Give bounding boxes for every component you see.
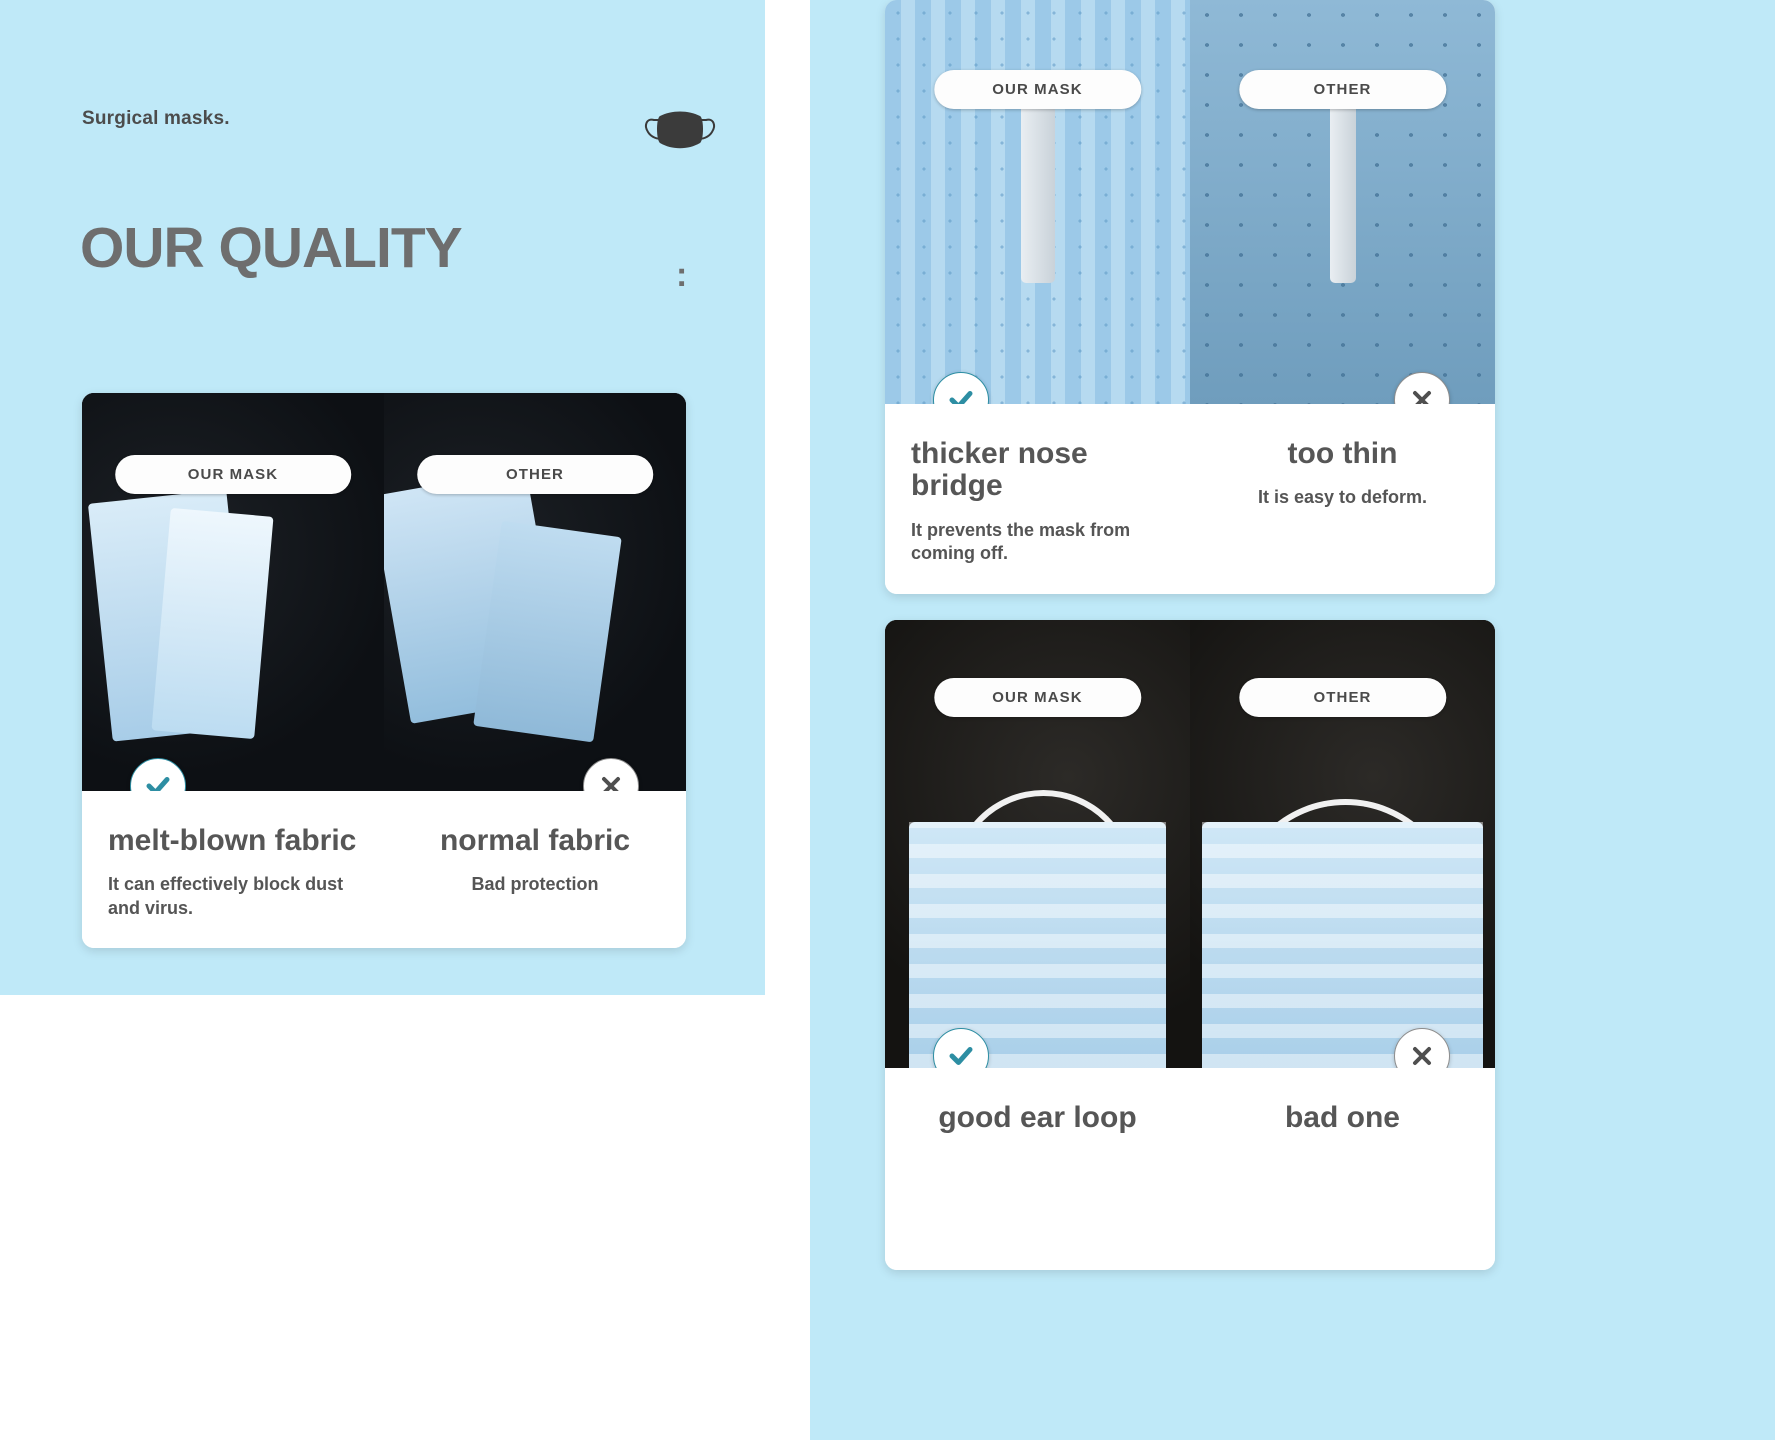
mask-cloth <box>1202 822 1483 1068</box>
caption-sub: It can effectively block dust and virus. <box>108 873 358 920</box>
caption-title: bad one <box>1216 1102 1469 1134</box>
photo-half-our-mask: OUR MASK <box>82 393 384 791</box>
brand-text: Surgical masks. <box>82 108 732 130</box>
caption-sub: It is easy to deform. <box>1216 486 1469 509</box>
nose-strip-thin <box>1330 93 1356 283</box>
check-icon <box>143 771 173 791</box>
right-panel: OUR MASK OTHER <box>810 0 1775 1440</box>
photo-half-other: OTHER <box>384 393 686 791</box>
caption-sub: It prevents the mask from coming off. <box>911 519 1164 566</box>
page-title: OUR QUALITY <box>80 215 462 281</box>
card-ear-loop: OUR MASK OTHER <box>885 620 1495 1270</box>
check-icon <box>946 1041 976 1068</box>
photo-half-other: OTHER <box>1190 0 1495 404</box>
pill-other: OTHER <box>417 455 653 494</box>
pill-other: OTHER <box>1239 70 1446 109</box>
card-loop-photo: OUR MASK OTHER <box>885 620 1495 1068</box>
card-nose-bridge: OUR MASK OTHER <box>885 0 1495 594</box>
caption-title: melt-blown fabric <box>108 825 358 857</box>
photo-half-our-mask: OUR MASK <box>885 620 1190 1068</box>
card-fabric: OUR MASK OTHER <box>82 393 686 948</box>
fabric-fold <box>151 508 273 739</box>
card-fabric-caption: melt-blown fabric It can effectively blo… <box>82 791 686 948</box>
colon-glyph: : <box>676 262 687 289</box>
check-icon <box>946 385 976 404</box>
infographic-page: Surgical masks. OUR QUALITY : OUR MASK <box>0 0 1775 1440</box>
card-fabric-photo: OUR MASK OTHER <box>82 393 686 791</box>
pill-our-mask: OUR MASK <box>934 678 1141 717</box>
colon-decoration: : <box>676 262 687 289</box>
photo-half-other: OTHER <box>1190 620 1495 1068</box>
caption-title: thicker nose bridge <box>911 438 1164 503</box>
caption-col-our-mask: melt-blown fabric It can effectively blo… <box>82 825 384 920</box>
brand-row: Surgical masks. <box>82 108 732 168</box>
caption-col-other: normal fabric Bad protection <box>384 825 686 920</box>
cross-icon <box>1407 1041 1437 1068</box>
caption-title: good ear loop <box>911 1102 1164 1134</box>
cross-icon <box>596 771 626 791</box>
card-nose-caption: thicker nose bridge It prevents the mask… <box>885 404 1495 594</box>
caption-sub: Bad protection <box>410 873 660 896</box>
card-loop-caption: good ear loop bad one <box>885 1068 1495 1270</box>
card-nose-photo: OUR MASK OTHER <box>885 0 1495 404</box>
left-panel: Surgical masks. OUR QUALITY : OUR MASK <box>0 0 765 995</box>
pill-other: OTHER <box>1239 678 1446 717</box>
caption-title: normal fabric <box>410 825 660 857</box>
face-mask-icon <box>638 102 722 158</box>
nose-strip-thick <box>1021 83 1055 283</box>
caption-col-other: bad one <box>1190 1102 1495 1150</box>
caption-col-other: too thin It is easy to deform. <box>1190 438 1495 566</box>
pill-our-mask: OUR MASK <box>115 455 351 494</box>
caption-title: too thin <box>1216 438 1469 470</box>
caption-col-our-mask: good ear loop <box>885 1102 1190 1150</box>
photo-half-our-mask: OUR MASK <box>885 0 1190 404</box>
pill-our-mask: OUR MASK <box>934 70 1141 109</box>
cross-icon <box>1407 385 1437 404</box>
caption-col-our-mask: thicker nose bridge It prevents the mask… <box>885 438 1190 566</box>
